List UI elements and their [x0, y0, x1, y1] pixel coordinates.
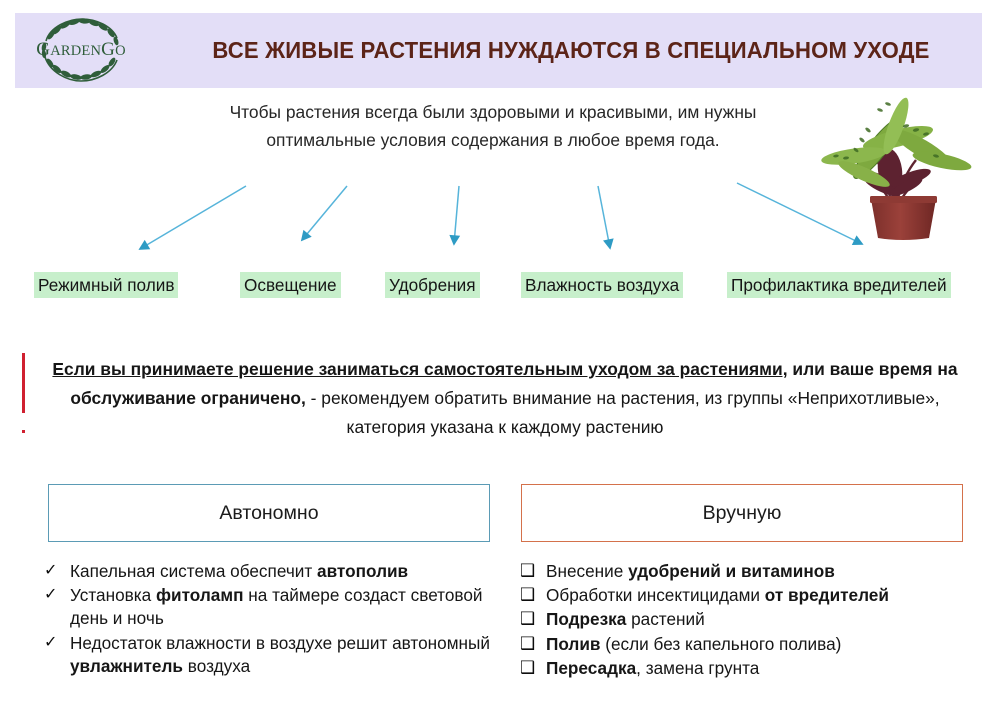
plain-text: Недостаток влажности в воздухе решит авт… — [70, 633, 490, 653]
gardengo-logo[interactable]: GARDENGO — [20, 14, 142, 87]
list-item[interactable]: ❑Внесение удобрений и витаминов — [520, 560, 990, 583]
list-item[interactable]: ❑Полив (если без капельного полива) — [520, 633, 990, 656]
list-item-label: Капельная система обеспечит автополив — [70, 560, 504, 583]
arrow-to-tag-1 — [140, 186, 246, 249]
emphasis-text: Подрезка — [546, 609, 626, 629]
intro-paragraph: Чтобы растения всегда были здоровыми и к… — [178, 98, 808, 154]
arrow-to-tag-2 — [302, 186, 347, 240]
emphasis-text: от вредителей — [765, 585, 889, 605]
list-item-label: Пересадка, замена грунта — [546, 657, 990, 680]
care-tag-udobreniya[interactable]: Удобрения — [385, 272, 480, 298]
page-title: ВСЕ ЖИВЫЕ РАСТЕНИЯ НУЖДАЮТСЯ В СПЕЦИАЛЬН… — [185, 13, 958, 88]
option-box-autonomous-label: Автономно — [219, 502, 318, 525]
list-item-label: Установка фитоламп на таймере создаст св… — [70, 584, 504, 630]
checkbox-icon[interactable]: ❑ — [520, 633, 546, 656]
option-box-manual[interactable]: Вручную — [521, 484, 963, 542]
plain-text: Обработки инсектицидами — [546, 585, 765, 605]
intro-line-2: оптимальные условия содержания в любое в… — [266, 130, 719, 150]
autonomous-feature-list: ✓Капельная система обеспечит автополив✓У… — [44, 560, 504, 679]
plain-text: Капельная система обеспечит — [70, 561, 317, 581]
care-tag-polив[interactable]: Режимный полив — [34, 272, 178, 298]
care-tag-vlazhnost[interactable]: Влажность воздуха — [521, 272, 683, 298]
manual-task-list: ❑Внесение удобрений и витаминов❑Обработк… — [520, 560, 990, 681]
emphasis-text: фитоламп — [156, 585, 243, 605]
check-icon: ✓ — [44, 584, 70, 606]
care-tag-row: Режимный полив Освещение Удобрения Влажн… — [0, 272, 1000, 300]
list-item[interactable]: ❑Обработки инсектицидами от вредителей — [520, 584, 990, 607]
list-item-label: Обработки инсектицидами от вредителей — [546, 584, 990, 607]
checkbox-icon[interactable]: ❑ — [520, 560, 546, 583]
list-item-label: Недостаток влажности в воздухе решит авт… — [70, 632, 504, 678]
potted-plant-calathea-image — [818, 86, 988, 244]
option-box-autonomous[interactable]: Автономно — [48, 484, 490, 542]
emphasis-text: автополив — [317, 561, 408, 581]
recommendation-quote: Если вы принимаете решение заниматься са… — [40, 355, 970, 443]
check-icon: ✓ — [44, 560, 70, 582]
list-item[interactable]: ✓Капельная система обеспечит автополив — [44, 560, 504, 583]
emphasis-text: удобрений и витаминов — [628, 561, 835, 581]
plain-text: воздуха — [183, 656, 250, 676]
list-item-label: Внесение удобрений и витаминов — [546, 560, 990, 583]
plain-text: (если без капельного полива) — [600, 634, 841, 654]
arrow-to-tag-4 — [598, 186, 610, 248]
list-item[interactable]: ✓Установка фитоламп на таймере создаст с… — [44, 584, 504, 630]
plain-text: растений — [626, 609, 704, 629]
intro-line-1: Чтобы растения всегда были здоровыми и к… — [230, 102, 757, 122]
emphasis-text: увлажнитель — [70, 656, 183, 676]
checkbox-icon[interactable]: ❑ — [520, 608, 546, 631]
list-item[interactable]: ❑Подрезка растений — [520, 608, 990, 631]
arrow-to-tag-3 — [454, 186, 459, 244]
care-tag-osveshchenie[interactable]: Освещение — [240, 272, 341, 298]
list-item[interactable]: ✓Недостаток влажности в воздухе решит ав… — [44, 632, 504, 678]
check-icon: ✓ — [44, 632, 70, 654]
checkbox-icon[interactable]: ❑ — [520, 657, 546, 680]
quote-line-1: Если вы принимаете решение заниматься са… — [52, 359, 787, 379]
plain-text: , замена грунта — [636, 658, 759, 678]
list-item-label: Подрезка растений — [546, 608, 990, 631]
quote-accent-dot — [22, 430, 25, 433]
plain-text: Установка — [70, 585, 156, 605]
logo-wordmark: GARDENGO — [36, 39, 125, 60]
list-item-label: Полив (если без капельного полива) — [546, 633, 990, 656]
checkbox-icon[interactable]: ❑ — [520, 584, 546, 607]
quote-accent-bar — [22, 353, 25, 413]
list-item[interactable]: ❑Пересадка, замена грунта — [520, 657, 990, 680]
emphasis-text: Полив — [546, 634, 600, 654]
quote-line-2-rest: - рекомендуем обратить внимание на — [306, 388, 616, 408]
emphasis-text: Пересадка — [546, 658, 636, 678]
care-tag-profilaktika[interactable]: Профилактика вредителей — [727, 272, 951, 298]
option-box-manual-label: Вручную — [703, 502, 782, 525]
plain-text: Внесение — [546, 561, 628, 581]
